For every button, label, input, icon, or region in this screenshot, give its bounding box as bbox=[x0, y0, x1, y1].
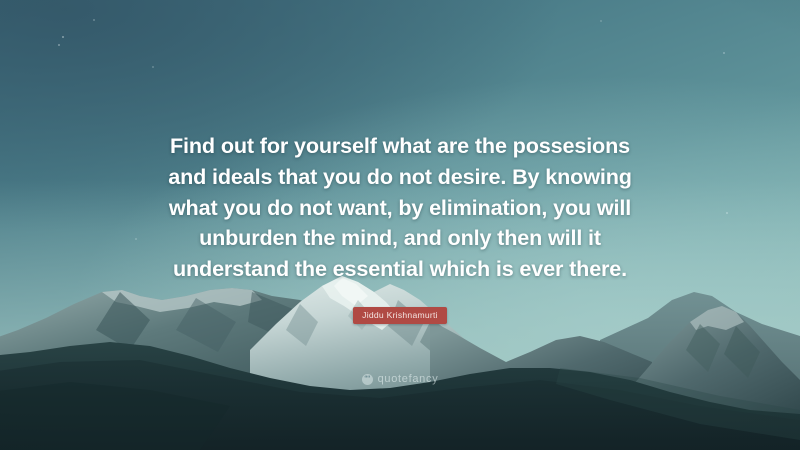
quote-text-block: Find out for yourself what are the posse… bbox=[0, 131, 800, 285]
quote-image-card: Find out for yourself what are the posse… bbox=[0, 0, 800, 450]
quote-line: understand the essential which is ever t… bbox=[70, 254, 730, 285]
quote-line: unburden the mind, and only then will it bbox=[70, 223, 730, 254]
quote-line: and ideals that you do not desire. By kn… bbox=[70, 162, 730, 193]
quote-mark-icon: ““ bbox=[362, 374, 373, 385]
watermark: ““ quotefancy bbox=[0, 367, 800, 385]
brand-lockup[interactable]: ““ quotefancy bbox=[362, 373, 439, 385]
brand-name-label: quotefancy bbox=[378, 373, 439, 385]
quote-line: Find out for yourself what are the posse… bbox=[70, 131, 730, 162]
quote-line: what you do not want, by elimination, yo… bbox=[70, 193, 730, 224]
author-attribution: Jiddu Krishnamurti bbox=[0, 305, 800, 324]
author-name-badge[interactable]: Jiddu Krishnamurti bbox=[353, 307, 447, 325]
